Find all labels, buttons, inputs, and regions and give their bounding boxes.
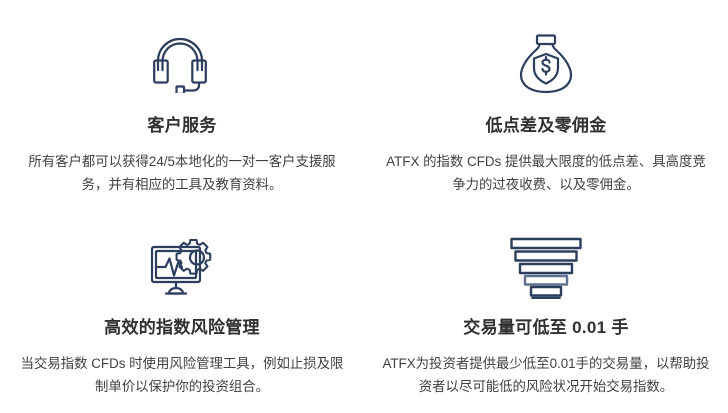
- feature-description: 当交易指数 CFDs 时使用风险管理工具，例如止损及限 制单价以保护你的投资组合…: [21, 352, 344, 398]
- description-line: 所有客户都可以获得24/5本地化的一对一客户支援服: [28, 150, 335, 173]
- feature-title: 交易量可低至 0.01 手: [463, 318, 628, 338]
- description-line: 争力的过夜收费、以及零佣金。: [386, 173, 706, 196]
- description-line: 当交易指数 CFDs 时使用风险管理工具，例如止损及限: [21, 352, 344, 375]
- description-line: 资者以尽可能低的风险状况开始交易指数。: [382, 375, 709, 398]
- description-line: ATFX 的指数 CFDs 提供最大限度的低点差、具高度竞: [386, 150, 706, 173]
- funnel-bars-icon: [506, 234, 586, 302]
- description-line: ATFX为投资者提供最少低至0.01手的交易量，以帮助投: [382, 352, 709, 375]
- description-line: 制单价以保护你的投资组合。: [21, 375, 344, 398]
- feature-card-min-lot-size: 交易量可低至 0.01 手 ATFX为投资者提供最少低至0.01手的交易量，以帮…: [364, 206, 728, 413]
- feature-title: 高效的指数风险管理: [104, 318, 260, 338]
- money-bag-shield-dollar-icon: [506, 30, 586, 98]
- feature-card-customer-service: 客户服务 所有客户都可以获得24/5本地化的一对一客户支援服 务，并有相应的工具…: [0, 0, 364, 206]
- feature-title: 客户服务: [147, 116, 216, 136]
- feature-title: 低点差及零佣金: [485, 116, 606, 136]
- features-grid: 客户服务 所有客户都可以获得24/5本地化的一对一客户支援服 务，并有相应的工具…: [0, 0, 728, 413]
- description-line: 务，并有相应的工具及教育资料。: [28, 173, 335, 196]
- feature-card-risk-management: 高效的指数风险管理 当交易指数 CFDs 时使用风险管理工具，例如止损及限 制单…: [0, 206, 364, 413]
- feature-description: 所有客户都可以获得24/5本地化的一对一客户支援服 务，并有相应的工具及教育资料…: [28, 150, 335, 196]
- feature-description: ATFX为投资者提供最少低至0.01手的交易量，以帮助投 资者以尽可能低的风险状…: [382, 352, 709, 398]
- headset-icon: [142, 30, 222, 98]
- monitor-chart-gear-icon: [142, 234, 222, 302]
- feature-card-low-spread: 低点差及零佣金 ATFX 的指数 CFDs 提供最大限度的低点差、具高度竞 争力…: [364, 0, 728, 206]
- feature-description: ATFX 的指数 CFDs 提供最大限度的低点差、具高度竞 争力的过夜收费、以及…: [386, 150, 706, 196]
